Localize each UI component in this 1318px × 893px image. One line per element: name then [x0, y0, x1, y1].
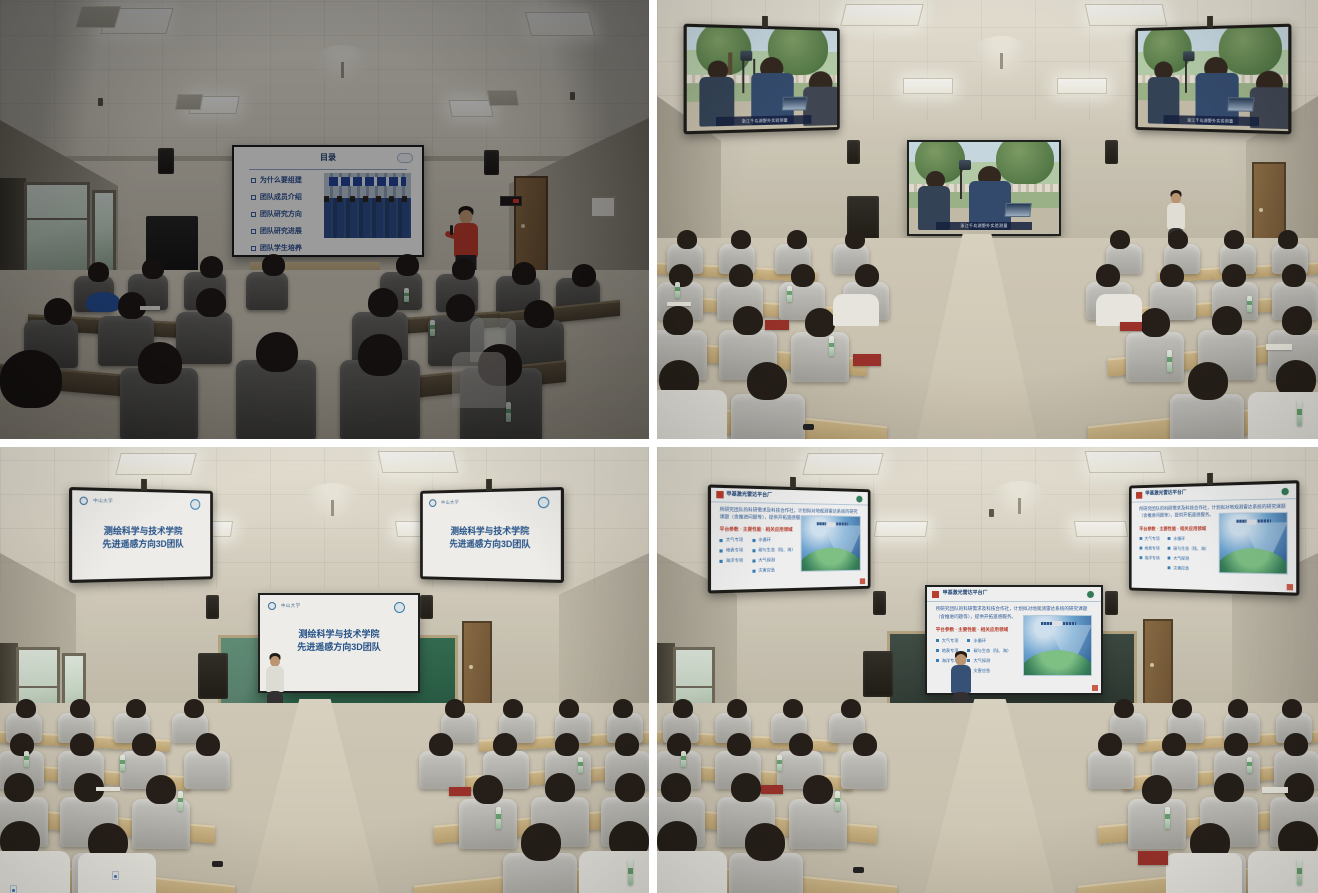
audience-bright	[657, 447, 1318, 893]
attendee-white-shirt	[657, 851, 727, 893]
attendee-head	[88, 262, 109, 282]
attendee-head	[1096, 264, 1120, 287]
seat[interactable]	[176, 312, 232, 364]
water-bottle[interactable]	[628, 859, 633, 885]
seat[interactable]	[246, 272, 288, 310]
attendee-head	[1168, 230, 1188, 249]
attendee-head	[853, 733, 877, 756]
water-bottle[interactable]	[496, 807, 501, 829]
attendee-head	[196, 288, 226, 317]
attendee-head	[446, 294, 475, 322]
attendee-head	[789, 733, 813, 756]
water-bottle[interactable]	[430, 320, 435, 336]
water-bottle[interactable]	[506, 402, 511, 422]
seat[interactable]	[1128, 799, 1186, 849]
attendee-head	[0, 350, 62, 408]
attendee-head	[555, 733, 579, 756]
water-bottle[interactable]	[1247, 296, 1252, 312]
water-bottle[interactable]	[1297, 400, 1302, 426]
water-bottle[interactable]	[777, 755, 782, 771]
attendee-head	[845, 230, 865, 249]
attendee-head	[729, 264, 753, 287]
collage-panel-bottom-left[interactable]: 中山大学 测绘科学与技术学院先进遥感方向3D团队 中山大学	[0, 443, 653, 893]
seat[interactable]	[791, 332, 849, 382]
attendee-head	[787, 230, 807, 249]
attendee-head	[1284, 733, 1308, 756]
attendee-head	[1228, 699, 1248, 718]
attendee-head	[745, 823, 785, 861]
water-bottle[interactable]	[1165, 807, 1170, 829]
collage-panel-bottom-right[interactable]: 甲基激光雷达平台厂 所研究团队的科研需求及科技合作社，计划拟对地观测雷达系统的研…	[653, 443, 1318, 893]
attendee-head	[855, 264, 879, 287]
water-bottle[interactable]	[578, 757, 583, 773]
attendee-head	[613, 699, 633, 718]
attendee-head	[10, 733, 34, 756]
water-bottle[interactable]	[829, 336, 834, 356]
attendee-head	[256, 332, 298, 372]
attendee-head	[545, 773, 575, 802]
seat[interactable]	[841, 751, 887, 789]
attendee-head	[1282, 264, 1306, 287]
attendee-head	[70, 733, 94, 756]
attendee-head	[783, 699, 803, 718]
water-bottle[interactable]	[1247, 757, 1252, 773]
seat[interactable]	[1088, 751, 1134, 789]
attendee-head	[44, 298, 72, 325]
attendee-head	[1282, 699, 1302, 718]
attendee-head	[1110, 230, 1130, 249]
seat[interactable]	[184, 751, 230, 789]
water-bottle[interactable]	[1297, 859, 1302, 885]
audience-bright	[0, 447, 649, 893]
attendee-head	[1214, 773, 1244, 802]
attendee-head	[132, 733, 156, 756]
attendee-head	[1278, 230, 1298, 249]
blue-cap	[86, 292, 120, 312]
attendee-head	[791, 264, 815, 287]
seat[interactable]	[459, 799, 517, 849]
attendee-head	[1114, 699, 1134, 718]
water-bottle[interactable]	[24, 751, 29, 767]
attendee-head	[70, 699, 90, 718]
name-badge	[10, 885, 17, 893]
water-bottle[interactable]	[787, 286, 792, 302]
attendee-head	[200, 256, 223, 278]
attendee-head	[196, 733, 220, 756]
attendee-white-shirt	[1248, 851, 1318, 893]
water-bottle[interactable]	[835, 791, 840, 811]
attendee-head	[521, 823, 561, 861]
attendee-head	[1188, 362, 1228, 400]
attendee-head	[493, 733, 517, 756]
lecture-hall-scene-satellite: 甲基激光雷达平台厂 所研究团队的科研需求及科技合作社，计划拟对地观测雷达系统的研…	[657, 447, 1318, 893]
attendee-white-shirt	[452, 352, 506, 408]
name-badge	[112, 871, 119, 880]
attendee-head	[429, 733, 453, 756]
collage-panel-top-right[interactable]: 浙江千岛湖野外实验测量	[653, 0, 1318, 443]
lecture-hall-scene-title: 中山大学 测绘科学与技术学院先进遥感方向3D团队 中山大学	[0, 447, 649, 893]
attendee-head	[727, 699, 747, 718]
attendee-head	[1284, 773, 1314, 802]
water-bottle[interactable]	[120, 755, 125, 771]
attendee-head	[559, 699, 579, 718]
attendee-head	[1098, 733, 1122, 756]
lecture-hall-scene-dim: 目录 为什么要组建 团队成员介绍	[0, 0, 649, 439]
smartphone[interactable]	[803, 424, 814, 430]
attendee-head	[1212, 306, 1242, 335]
attendee-head	[669, 264, 693, 287]
attendee-head	[138, 342, 182, 384]
attendee-head	[805, 308, 835, 337]
seat[interactable]	[1126, 332, 1184, 382]
seat[interactable]	[1170, 394, 1244, 439]
attendee-head	[126, 699, 146, 718]
attendee-head	[445, 699, 465, 718]
handout-paper[interactable]	[140, 306, 160, 310]
attendee-head	[1224, 733, 1248, 756]
handout-paper[interactable]	[667, 302, 691, 306]
red-booklet[interactable]	[1120, 322, 1142, 331]
attendee-head	[396, 254, 419, 276]
water-bottle[interactable]	[681, 751, 686, 767]
attendee-white-shirt	[657, 390, 727, 439]
collage-panel-top-left[interactable]: 目录 为什么要组建 团队成员介绍	[0, 0, 653, 443]
audience-bright	[657, 0, 1318, 439]
photo-collage: 目录 为什么要组建 团队成员介绍	[0, 0, 1318, 893]
attendee-white-shirt	[1166, 853, 1242, 893]
handout-paper[interactable]	[1262, 787, 1288, 793]
attendee-head	[1162, 733, 1186, 756]
red-booklet[interactable]	[853, 354, 881, 366]
attendee-head	[358, 334, 402, 376]
attendee-head	[667, 733, 691, 756]
attendee-head	[146, 775, 176, 804]
attendee-head	[731, 230, 751, 249]
audience-dim	[0, 0, 649, 439]
attendee-head	[1222, 264, 1246, 287]
red-booklet[interactable]	[765, 320, 789, 330]
attendee-head	[747, 362, 787, 400]
red-booklet[interactable]	[449, 787, 471, 796]
smartphone[interactable]	[212, 861, 223, 867]
attendee-head	[262, 254, 285, 276]
attendee-head	[16, 699, 36, 718]
red-booklet[interactable]	[761, 785, 783, 794]
attendee-head	[368, 288, 398, 317]
water-bottle[interactable]	[178, 791, 183, 811]
handout-paper[interactable]	[1266, 344, 1292, 350]
attendee-head	[1140, 308, 1170, 337]
attendee-head	[572, 264, 596, 287]
attendee-head	[731, 773, 761, 802]
attendee-head	[677, 230, 697, 249]
attendee-head	[1282, 306, 1312, 335]
attendee-head	[733, 306, 763, 335]
smartphone[interactable]	[853, 867, 864, 873]
attendee-white-shirt	[833, 294, 879, 326]
attendee-head	[1142, 775, 1172, 804]
attendee-head	[512, 262, 536, 285]
attendee-head	[673, 699, 693, 718]
handout-paper[interactable]	[96, 787, 120, 791]
red-booklet[interactable]	[1138, 851, 1168, 865]
attendee-head	[1160, 264, 1184, 287]
seat[interactable]	[731, 394, 805, 439]
attendee-head	[4, 773, 34, 802]
water-bottle[interactable]	[404, 288, 409, 302]
water-bottle[interactable]	[1167, 350, 1172, 372]
attendee-head	[841, 699, 861, 718]
attendee-head	[803, 775, 833, 804]
attendee-head	[184, 699, 204, 718]
attendee-head	[142, 258, 164, 279]
attendee-head	[1224, 230, 1244, 249]
attendee-head	[661, 773, 691, 802]
seat[interactable]	[419, 751, 465, 789]
attendee-head	[524, 300, 554, 328]
attendee-head	[727, 733, 751, 756]
attendee-head	[503, 699, 523, 718]
attendee-head	[452, 258, 475, 280]
lecture-hall-scene-bright-video: 浙江千岛湖野外实验测量	[657, 0, 1318, 439]
attendee-head	[615, 773, 645, 802]
attendee-head	[663, 306, 693, 335]
attendee-head	[473, 775, 503, 804]
attendee-head	[615, 733, 639, 756]
water-bottle[interactable]	[675, 282, 680, 298]
attendee-head	[1172, 699, 1192, 718]
attendee-white-shirt	[579, 851, 649, 893]
attendee-white-shirt	[1248, 392, 1318, 439]
